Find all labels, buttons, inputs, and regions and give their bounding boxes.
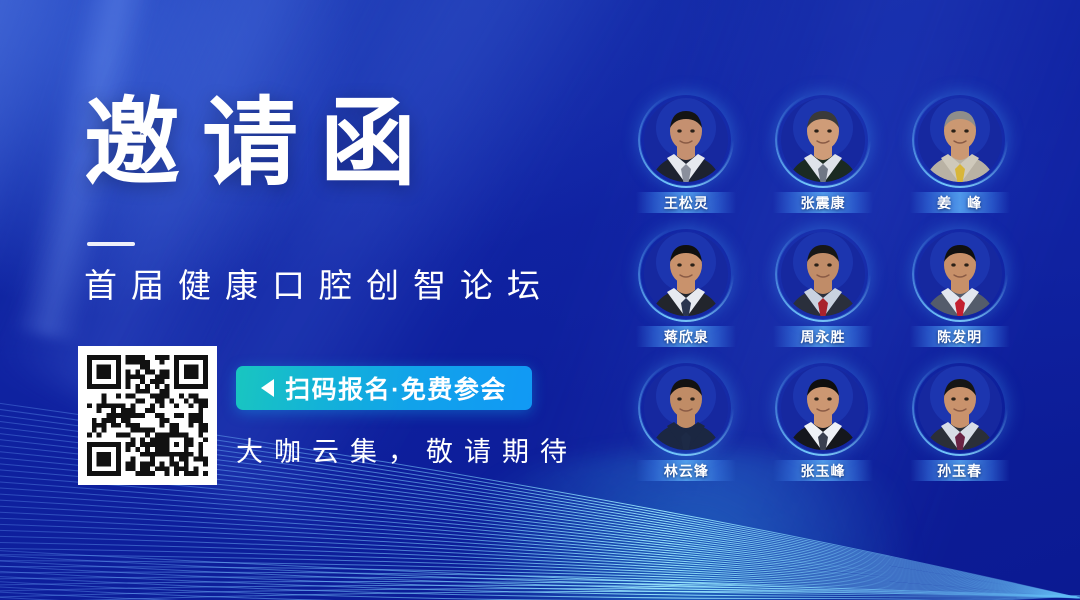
speaker-avatar-ring: [912, 226, 1008, 322]
signup-button-label: 扫码报名·免费参会: [285, 370, 507, 406]
speaker-photo-art: [918, 366, 1002, 450]
tagline: 大咖云集，敬请期待: [236, 430, 578, 469]
title-divider: [87, 242, 135, 246]
speaker-photo-art: [781, 366, 865, 450]
speaker-photo-art: [918, 232, 1002, 316]
speaker-name: 张玉峰: [800, 461, 845, 481]
speaker-name: 孙玉春: [937, 461, 982, 481]
speaker-card[interactable]: 林云锋: [618, 360, 755, 494]
speaker-name-plate: 姜 峰: [910, 192, 1010, 213]
speaker-name-plate: 周永胜: [773, 326, 873, 347]
speaker-avatar-ring: [775, 92, 871, 188]
speaker-avatar: [918, 98, 1002, 182]
event-subtitle: 首届健康口腔创智论坛: [84, 266, 554, 306]
speaker-photo-art: [644, 232, 728, 316]
speaker-name-plate: 王松灵: [636, 192, 736, 213]
speaker-name-plate: 蒋欣泉: [636, 326, 736, 347]
signup-button[interactable]: 扫码报名·免费参会: [236, 366, 532, 410]
speaker-avatar-ring: [775, 226, 871, 322]
speaker-name: 张震康: [800, 193, 845, 213]
speaker-avatar: [644, 366, 728, 450]
speaker-photo-art: [781, 98, 865, 182]
speaker-name-plate: 张震康: [773, 192, 873, 213]
speaker-card[interactable]: 陈发明: [891, 226, 1028, 360]
speaker-photo-art: [644, 366, 728, 450]
speaker-name: 蒋欣泉: [664, 327, 709, 347]
speaker-name: 林云锋: [664, 461, 709, 481]
speaker-name: 陈发明: [937, 327, 982, 347]
speaker-card[interactable]: 王松灵: [618, 92, 755, 226]
page-title: 邀请函: [84, 96, 438, 192]
speaker-photo-art: [918, 98, 1002, 182]
speaker-grid: 王松灵 张震康 姜 峰: [618, 92, 1028, 512]
qr-code[interactable]: [78, 346, 217, 485]
left-content: 邀请函 首届健康口腔创智论坛 扫码报名·免费参会 大咖云集，敬请期待: [84, 0, 604, 600]
speaker-avatar-ring: [638, 92, 734, 188]
speaker-avatar: [781, 366, 865, 450]
speaker-name: 姜 峰: [937, 193, 982, 213]
speaker-name-plate: 林云锋: [636, 460, 736, 481]
play-triangle-icon: [261, 379, 274, 397]
speaker-card[interactable]: 蒋欣泉: [618, 226, 755, 360]
speaker-name-plate: 陈发明: [910, 326, 1010, 347]
qr-code-image: [87, 355, 208, 476]
speaker-name: 王松灵: [664, 193, 709, 213]
speaker-avatar: [918, 232, 1002, 316]
speaker-card[interactable]: 姜 峰: [891, 92, 1028, 226]
speaker-avatar-ring: [775, 360, 871, 456]
speaker-avatar-ring: [638, 226, 734, 322]
speaker-name-plate: 张玉峰: [773, 460, 873, 481]
speaker-avatar: [781, 232, 865, 316]
speaker-avatar: [644, 98, 728, 182]
speaker-avatar-ring: [912, 92, 1008, 188]
speaker-card[interactable]: 孙玉春: [891, 360, 1028, 494]
speaker-photo-art: [781, 232, 865, 316]
speaker-avatar: [781, 98, 865, 182]
speaker-card[interactable]: 张玉峰: [755, 360, 892, 494]
speaker-card[interactable]: 张震康: [755, 92, 892, 226]
speaker-avatar-ring: [638, 360, 734, 456]
speaker-photo-art: [644, 98, 728, 182]
speaker-card[interactable]: 周永胜: [755, 226, 892, 360]
speaker-name-plate: 孙玉春: [910, 460, 1010, 481]
speaker-name: 周永胜: [800, 327, 845, 347]
invitation-poster: 邀请函 首届健康口腔创智论坛 扫码报名·免费参会 大咖云集，敬请期待: [0, 0, 1080, 600]
speaker-avatar: [918, 366, 1002, 450]
speaker-avatar: [644, 232, 728, 316]
speaker-avatar-ring: [912, 360, 1008, 456]
